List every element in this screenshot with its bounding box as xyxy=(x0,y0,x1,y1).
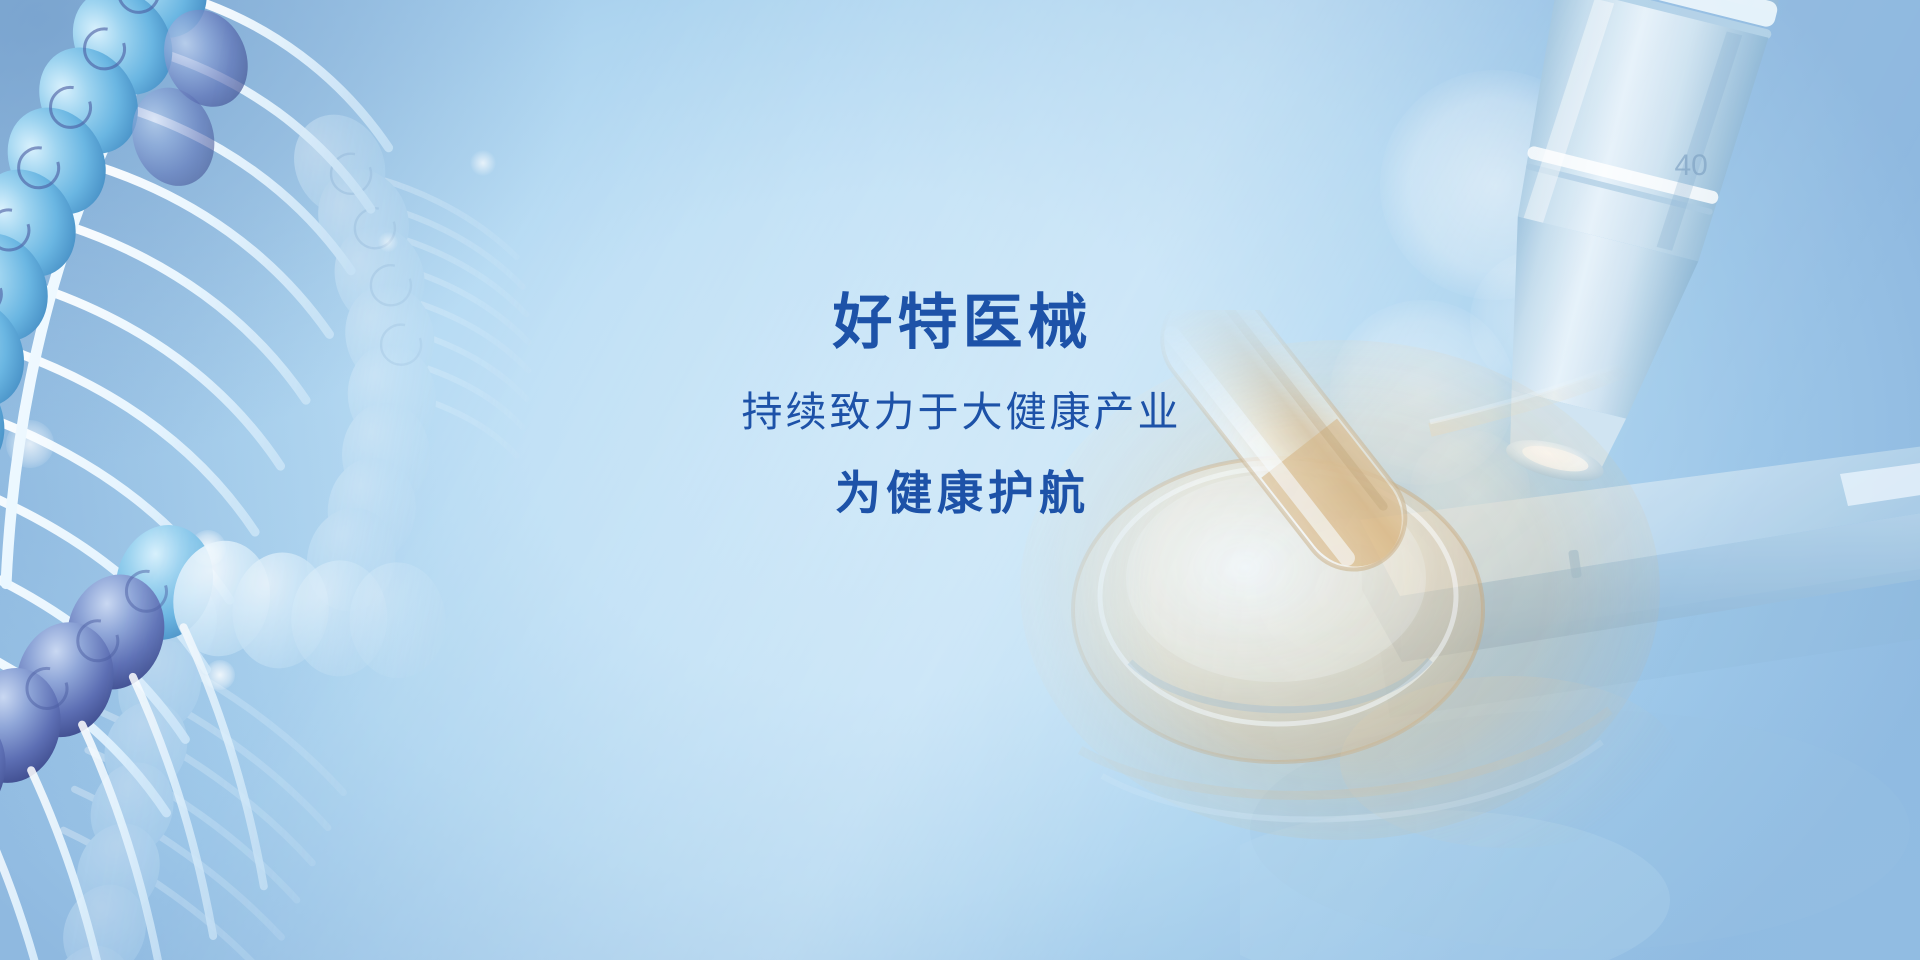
page-title: 好特医械 xyxy=(828,288,1093,358)
hero-text-block: 好特医械 持续致力于大健康产业 为健康护航 xyxy=(0,288,1920,521)
hero-slogan: 为健康护航 xyxy=(830,466,1090,521)
hero-banner: 40 xyxy=(0,0,1920,960)
hero-subtitle: 持续致力于大健康产业 xyxy=(739,388,1182,437)
svg-text:40: 40 xyxy=(1674,149,1707,182)
